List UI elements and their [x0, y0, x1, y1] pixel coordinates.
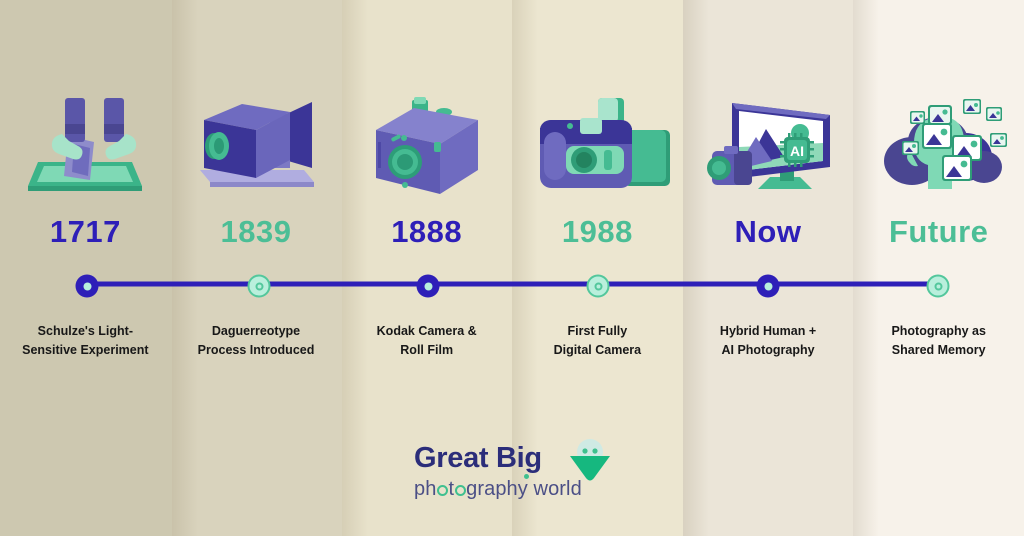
milestone-caption: Hybrid Human + AI Photography: [689, 322, 848, 361]
logo-subtitle-part: graphy world: [466, 478, 582, 500]
milestone-caption: First Fully Digital Camera: [518, 322, 677, 361]
monitor-ai-chip-camera-icon: AI: [683, 78, 854, 200]
caption-line: Shared Memory: [859, 341, 1018, 360]
logo-subtitle-part: ph: [414, 478, 436, 500]
dot-core: [594, 282, 602, 290]
milestone-caption: Schulze's Light- Sensitive Experiment: [6, 322, 165, 361]
timeline-dot-1717[interactable]: [76, 275, 99, 298]
timeline-dot-future[interactable]: [927, 275, 950, 298]
caption-line: Daguerreotype: [177, 322, 336, 341]
logo-subtitle: phtgraphy world: [414, 479, 610, 499]
milestone-year: 1888: [341, 216, 512, 247]
logo-subtitle-part: t: [448, 478, 454, 500]
timeline-dot-now[interactable]: [757, 275, 780, 298]
milestone-caption: Daguerreotype Process Introduced: [177, 322, 336, 361]
darkroom-developing-tray-icon: [0, 78, 171, 200]
logo-title: Great Big: [414, 444, 564, 473]
caption-line: AI Photography: [689, 341, 848, 360]
milestone-year: Now: [683, 216, 854, 247]
milestone-caption: Photography as Shared Memory: [859, 322, 1018, 361]
milestone-year: 1988: [512, 216, 683, 247]
timeline-dot-1839[interactable]: [248, 275, 271, 298]
ai-chip-label: AI: [790, 143, 804, 159]
daguerreotype-box-camera-icon: [171, 78, 342, 200]
timeline-dot-1888[interactable]: [417, 275, 440, 298]
brand-logo[interactable]: Great Big phtgraphy world: [0, 438, 1024, 504]
dot-core: [255, 282, 263, 290]
caption-line: Digital Camera: [518, 341, 677, 360]
head-cloud-photos-icon: [853, 78, 1024, 200]
timeline-dot-1988[interactable]: [587, 275, 610, 298]
dot-core: [934, 282, 942, 290]
kodak-box-camera-icon: [341, 78, 512, 200]
compact-digital-camera-icon: [512, 78, 683, 200]
caption-line: Process Introduced: [177, 341, 336, 360]
caption-line: First Fully: [518, 322, 677, 341]
dot-core: [424, 282, 432, 290]
dot-core: [83, 282, 91, 290]
caption-line: Kodak Camera &: [347, 322, 506, 341]
caption-line: Schulze's Light-: [6, 322, 165, 341]
milestone-year: Future: [853, 216, 1024, 247]
milestone-year: 1839: [171, 216, 342, 247]
milestone-year: 1717: [0, 216, 171, 247]
caption-line: Hybrid Human +: [689, 322, 848, 341]
caption-line: Photography as: [859, 322, 1018, 341]
dot-core: [764, 282, 772, 290]
milestone-caption: Kodak Camera & Roll Film: [347, 322, 506, 361]
infographic-canvas: 1717 Schulze's Light- Sensitive Experime…: [0, 0, 1024, 536]
logo-lens-o-icon: [437, 485, 448, 496]
caption-line: Sensitive Experiment: [6, 341, 165, 360]
logo-lens-o-icon-2: [455, 485, 466, 496]
caption-line: Roll Film: [347, 341, 506, 360]
